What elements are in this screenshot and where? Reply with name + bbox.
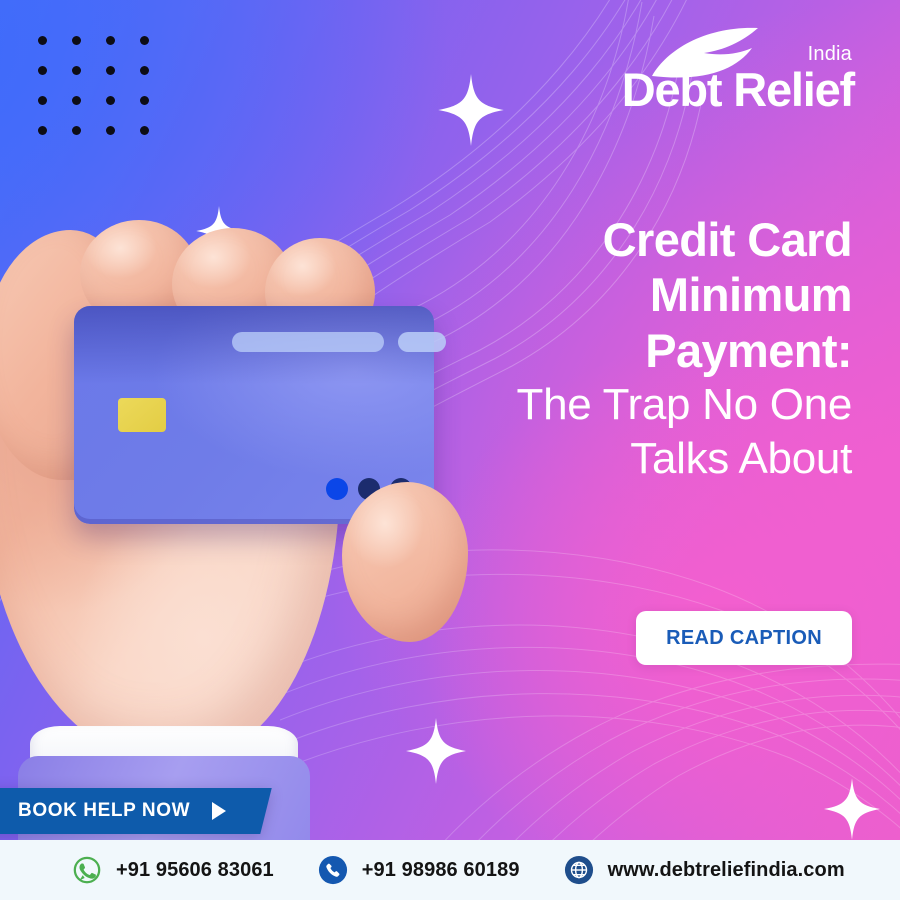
sparkle-icon <box>824 778 880 840</box>
whatsapp-number: +91 95606 83061 <box>116 859 274 882</box>
logo-region-label: India <box>808 44 852 64</box>
grid-dot <box>140 66 149 75</box>
book-help-now-button[interactable]: BOOK HELP NOW <box>0 788 272 834</box>
grid-dot <box>72 66 81 75</box>
grid-dot <box>38 66 47 75</box>
poster-canvas: India Debt Relief Credit Card Minimum Pa… <box>0 0 900 900</box>
headline-line-light: Talks About <box>422 432 852 486</box>
contact-phone[interactable]: +91 98986 60189 <box>318 855 520 885</box>
grid-dot <box>72 36 81 45</box>
grid-dot <box>72 96 81 105</box>
contact-footer-bar: +91 95606 83061 +91 98986 60189 <box>0 840 900 900</box>
grid-dot <box>106 96 115 105</box>
globe-icon <box>564 855 594 885</box>
grid-dot <box>140 96 149 105</box>
phone-number: +91 98986 60189 <box>362 859 520 882</box>
website-url: www.debtreliefindia.com <box>608 859 845 882</box>
read-caption-button[interactable]: READ CAPTION <box>636 611 852 665</box>
headline-line-bold: Payment: <box>422 323 852 378</box>
card-stripe <box>232 332 384 352</box>
whatsapp-icon <box>72 855 102 885</box>
leaf-swoosh-icon <box>646 26 776 84</box>
thumb-tip-shape <box>342 482 468 642</box>
grid-dot <box>38 96 47 105</box>
card-dot <box>326 478 348 500</box>
grid-dot <box>140 126 149 135</box>
grid-dot <box>38 36 47 45</box>
grid-dot <box>38 126 47 135</box>
headline-line-bold: Credit Card <box>422 212 852 267</box>
book-help-now-label: BOOK HELP NOW <box>18 800 190 822</box>
dot-grid-decoration <box>38 36 174 156</box>
grid-dot <box>106 126 115 135</box>
grid-dot <box>140 36 149 45</box>
contact-website[interactable]: www.debtreliefindia.com <box>564 855 845 885</box>
page-title: Credit Card Minimum Payment: The Trap No… <box>422 212 852 486</box>
contact-whatsapp[interactable]: +91 95606 83061 <box>72 855 274 885</box>
card-chip-icon <box>118 398 166 432</box>
headline-line-light: The Trap No One <box>422 378 852 432</box>
grid-dot <box>72 126 81 135</box>
headline-line-bold: Minimum <box>422 267 852 322</box>
sparkle-icon <box>438 74 504 146</box>
brand-logo[interactable]: India Debt Relief <box>554 22 854 113</box>
grid-dot <box>106 36 115 45</box>
play-arrow-icon <box>212 802 226 820</box>
phone-icon <box>318 855 348 885</box>
grid-dot <box>106 66 115 75</box>
